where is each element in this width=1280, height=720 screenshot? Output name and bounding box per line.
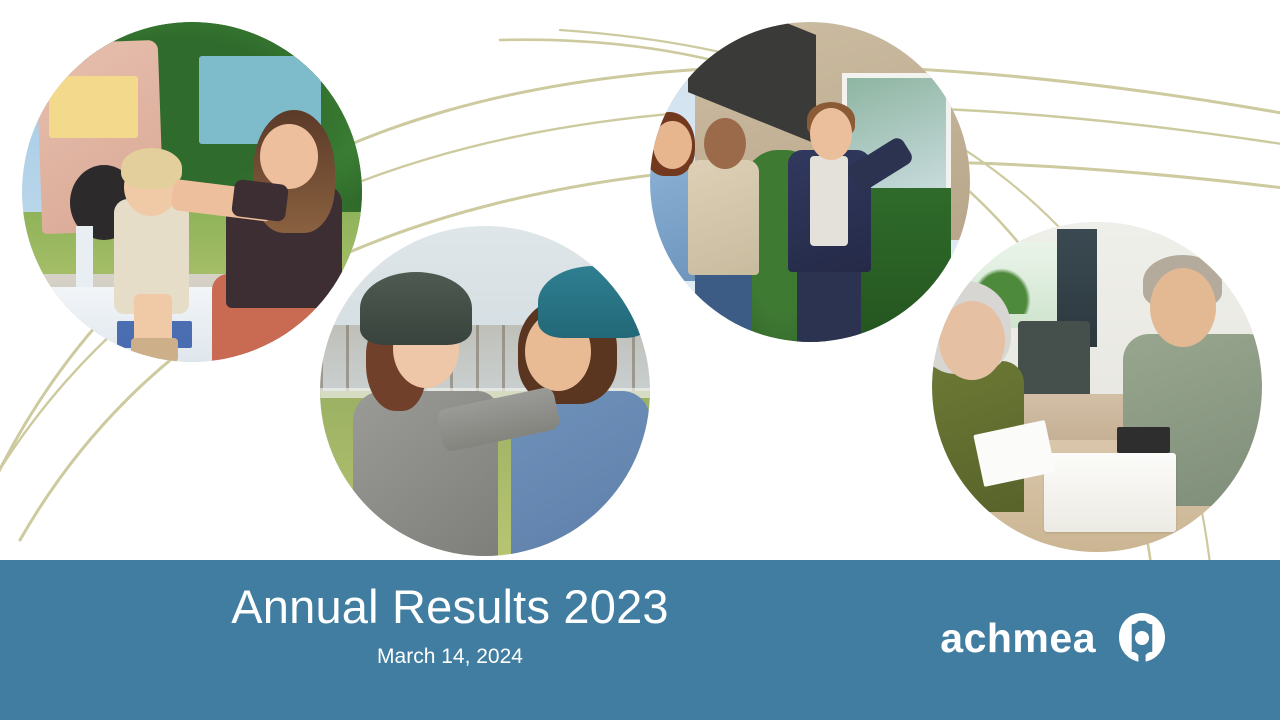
achmea-logo: achmea [940, 612, 1168, 664]
photo-seniors-paperwork [932, 222, 1262, 552]
title-slide: Annual Results 2023 March 14, 2024 achme… [0, 0, 1280, 720]
achmea-circle-mark [1116, 612, 1168, 664]
photo-content [320, 226, 650, 556]
achmea-wordmark: achmea [940, 618, 1096, 659]
title-block: Annual Results 2023 March 14, 2024 [0, 582, 900, 669]
title-banner: Annual Results 2023 March 14, 2024 achme… [0, 560, 1280, 720]
page-title: Annual Results 2023 [0, 582, 900, 631]
photo-cyclists-helmets [320, 226, 650, 556]
photo-home-viewing [650, 22, 970, 342]
slide-date: March 14, 2024 [0, 645, 900, 669]
photo-content [22, 22, 362, 362]
photo-content [932, 222, 1262, 552]
photo-content [650, 22, 970, 342]
photo-parent-and-toddler [22, 22, 362, 362]
